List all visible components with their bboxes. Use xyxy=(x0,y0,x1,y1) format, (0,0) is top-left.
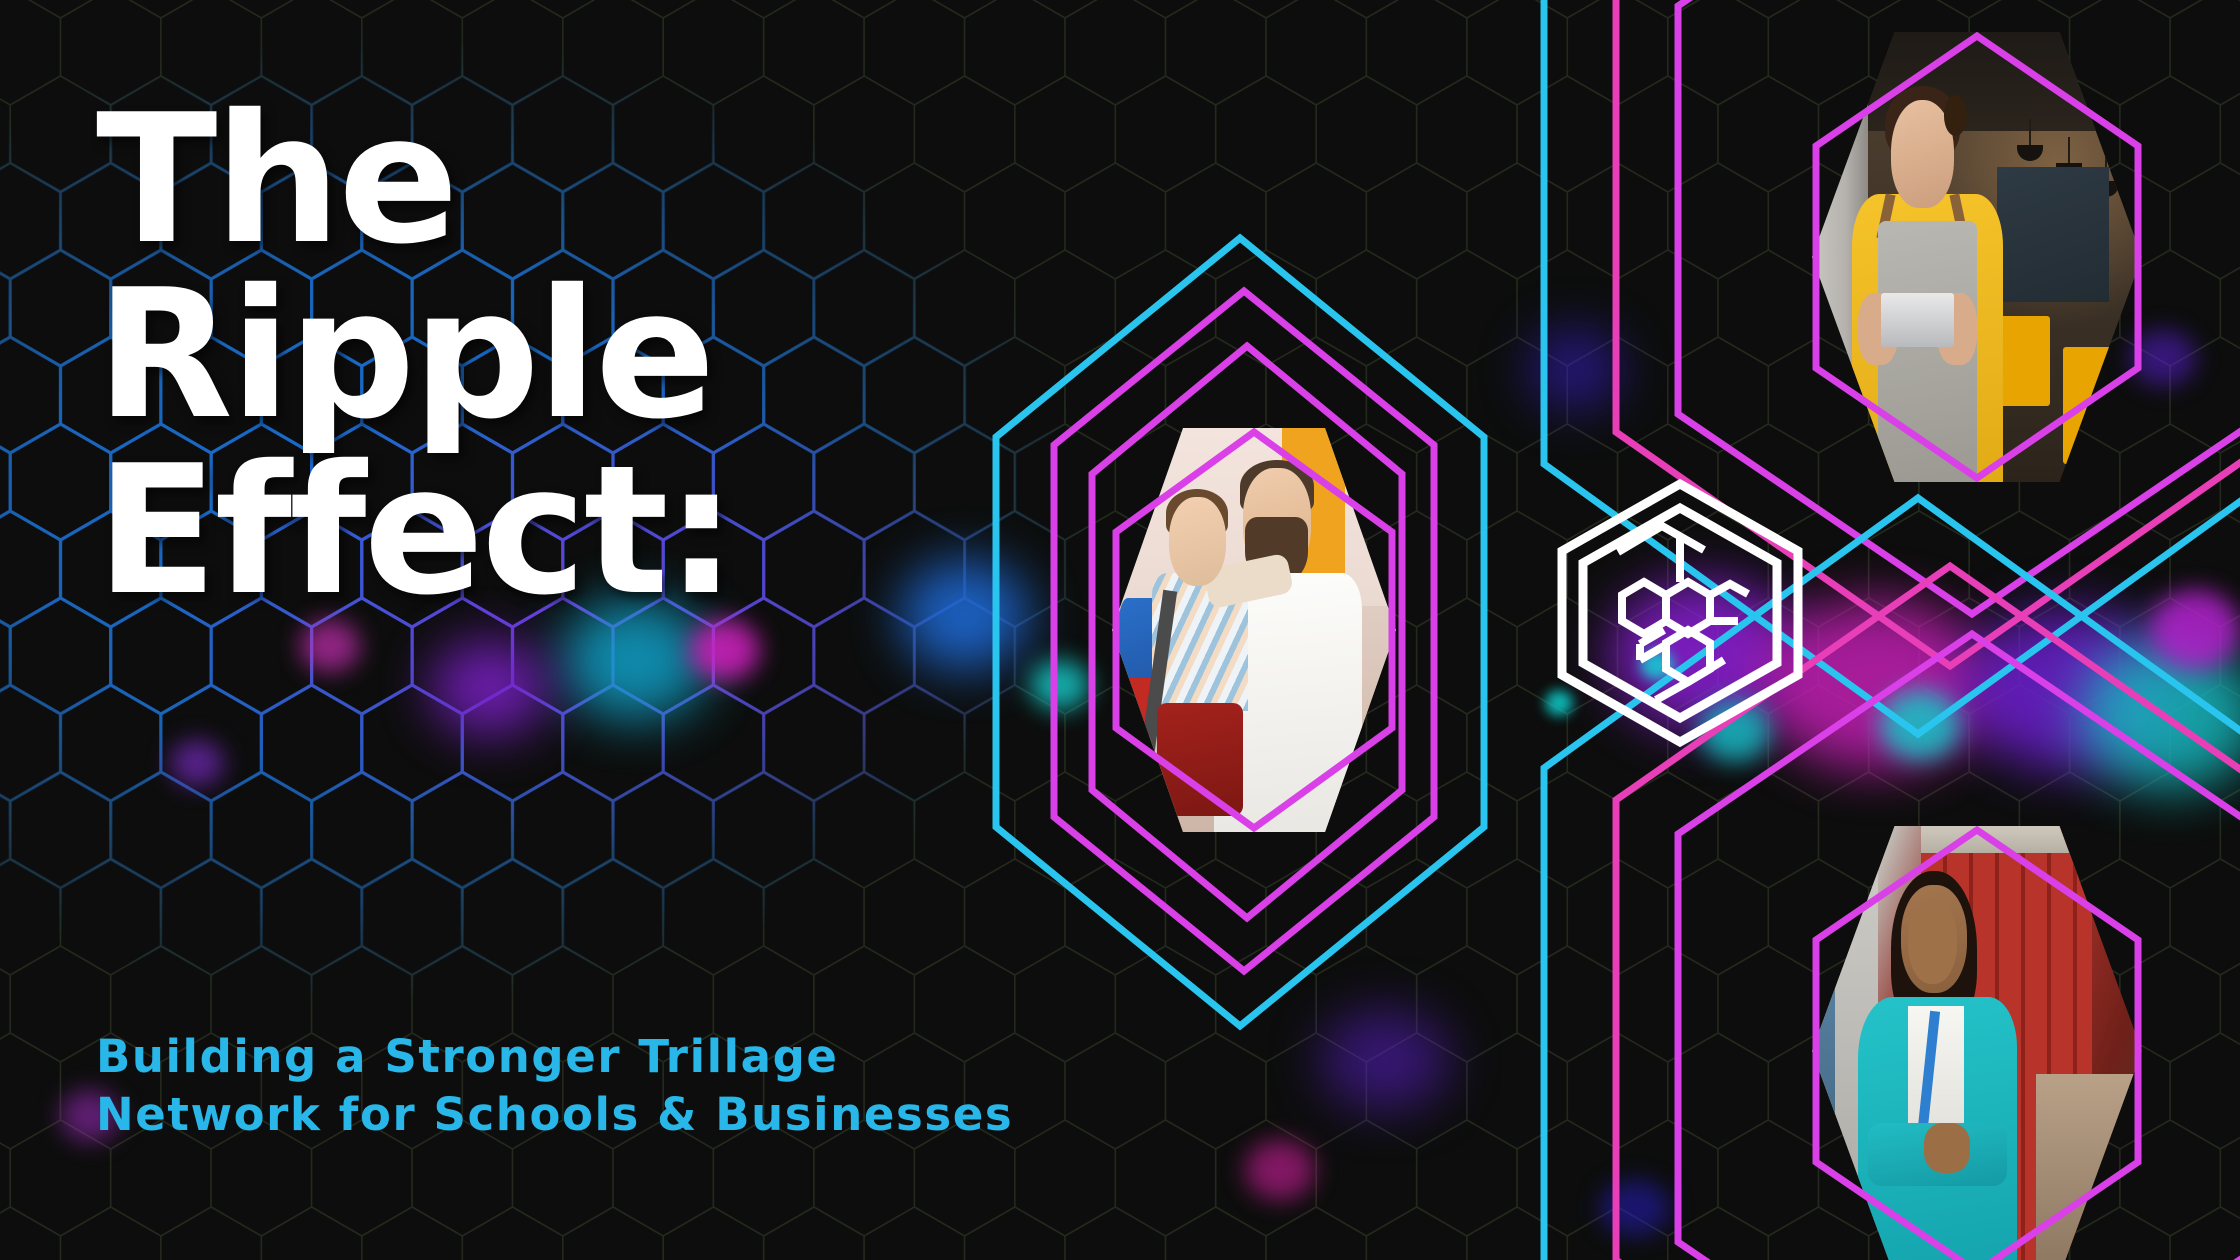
educator-hexagon xyxy=(1812,826,2142,1260)
headline-line-2: Ripple xyxy=(96,267,1056,442)
page-subtitle: Building a Stronger Trillage Network for… xyxy=(96,1028,1096,1143)
educator-hex-frame xyxy=(1812,826,2142,1260)
subtitle-line-1: Building a Stronger Trillage xyxy=(96,1028,1096,1086)
headline-line-1: The xyxy=(96,92,1056,267)
small-business-owner-hex-frame xyxy=(1812,32,2142,482)
small-business-owner-hexagon xyxy=(1812,32,2142,482)
page-title: The Ripple Effect: xyxy=(96,92,1056,618)
subtitle-line-2: Network for Schools & Businesses xyxy=(96,1086,1096,1144)
parent-and-child-hexagon xyxy=(1112,428,1396,832)
parent-and-child-hex-frame xyxy=(1112,428,1396,832)
headline-line-3: Effect: xyxy=(96,443,1056,618)
poster-canvas: The Ripple Effect: Building a Stronger T… xyxy=(0,0,2240,1260)
